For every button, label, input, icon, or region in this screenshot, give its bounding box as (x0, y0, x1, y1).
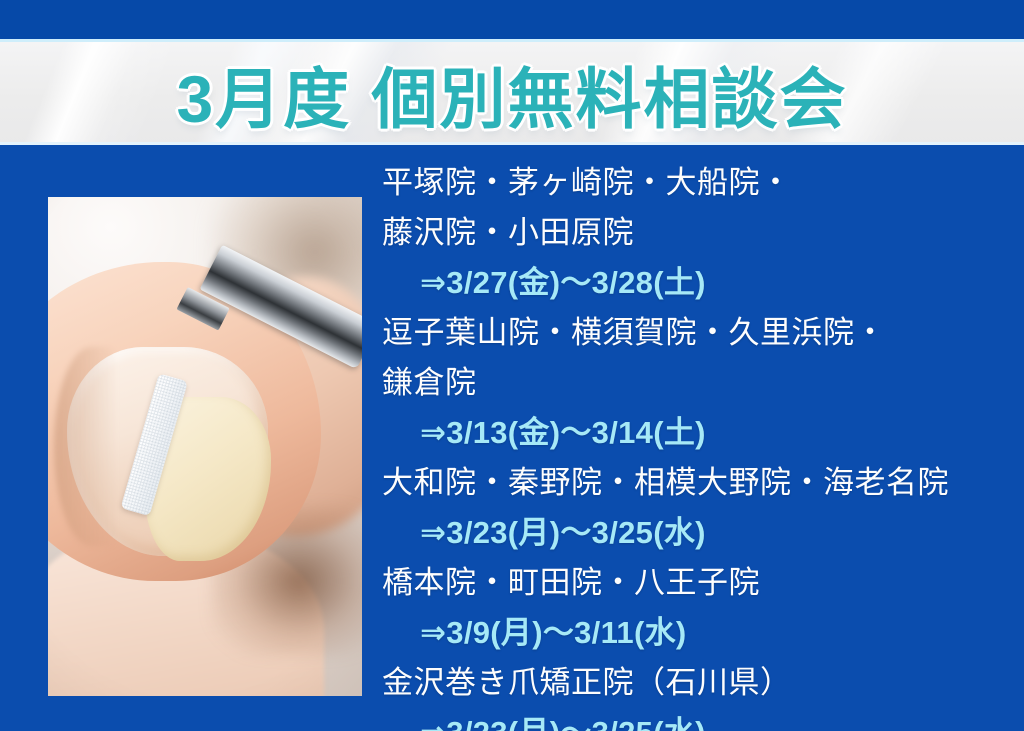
date-line: ⇒3/23(月)〜3/25(水) (382, 708, 1012, 731)
clinic-line: 鎌倉院 (382, 358, 1012, 408)
clinic-line: 藤沢院・小田原院 (382, 208, 1012, 258)
photo-vignette (48, 197, 362, 696)
poster-root: 3月度 個別無料相談会 平塚院・茅ヶ崎院・大船院・ 藤沢院・小田原院 ⇒3/27… (0, 0, 1024, 731)
date-line: ⇒3/9(月)〜3/11(水) (382, 608, 1012, 658)
title-banner: 3月度 個別無料相談会 (0, 42, 1024, 145)
schedule-list: 平塚院・茅ヶ崎院・大船院・ 藤沢院・小田原院 ⇒3/27(金)〜3/28(土) … (382, 158, 1012, 731)
clinic-line: 大和院・秦野院・相模大野院・海老名院 (382, 458, 1012, 508)
date-line: ⇒3/23(月)〜3/25(水) (382, 508, 1012, 558)
photo-composition (48, 197, 362, 696)
clinic-line: 橋本院・町田院・八王子院 (382, 558, 1012, 608)
clinic-line: 金沢巻き爪矯正院（石川県） (382, 658, 1012, 708)
clinic-line: 逗子葉山院・横須賀院・久里浜院・ (382, 308, 1012, 358)
date-line: ⇒3/27(金)〜3/28(土) (382, 258, 1012, 308)
nail-treatment-photo (48, 197, 362, 696)
date-line: ⇒3/13(金)〜3/14(土) (382, 408, 1012, 458)
top-blue-strip (0, 0, 1024, 39)
clinic-line: 平塚院・茅ヶ崎院・大船院・ (382, 158, 1012, 208)
page-title: 3月度 個別無料相談会 (0, 42, 1024, 145)
